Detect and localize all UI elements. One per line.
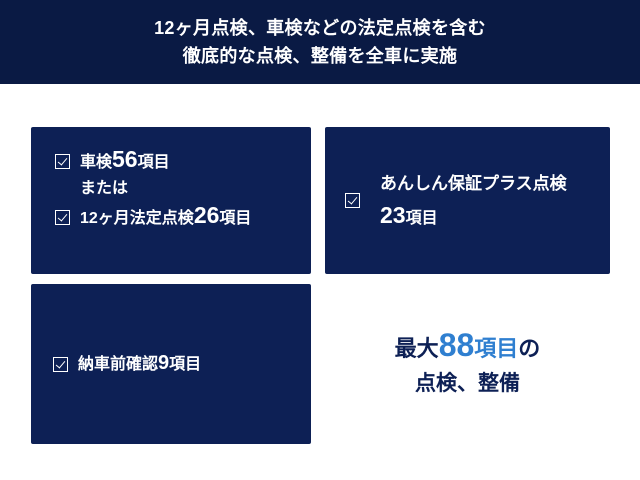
summary-line-1: 最大88項目の xyxy=(395,327,541,367)
card-a-row-2: 12ヶ月法定点検26項目 xyxy=(55,205,311,229)
card-b-line2: 23項目 xyxy=(380,200,567,234)
card-inspection-items: 車検56項目 または 12ヶ月法定点検26項目 xyxy=(31,127,311,274)
card-c-inner: 納車前確認9項目 xyxy=(31,284,311,444)
card-c-text: 納車前確認9項目 xyxy=(78,353,201,375)
card-a-item1-number: 56 xyxy=(112,146,138,172)
card-c-number: 9 xyxy=(158,352,169,374)
card-a-item2-label: 12ヶ月法定点検 xyxy=(80,210,194,227)
card-warranty-plus-inspection: あんしん保証プラス点検 23項目 xyxy=(325,127,610,274)
card-a-middle-text: または xyxy=(80,179,311,199)
content-area: 車検56項目 または 12ヶ月法定点検26項目 あんしん保証プラス点検 23項目 xyxy=(0,84,640,480)
card-b-suffix: 項目 xyxy=(406,210,438,227)
card-b-number: 23 xyxy=(380,202,406,228)
card-a-item1-suffix: 項目 xyxy=(138,154,170,171)
summary-line-2: 点検、整備 xyxy=(415,367,520,401)
card-a-item2-number: 26 xyxy=(194,202,220,228)
card-a-item2: 12ヶ月法定点検26項目 xyxy=(80,205,251,229)
header-banner: 12ヶ月点検、車検などの法定点検を含む 徹底的な点検、整備を全車に実施 xyxy=(0,0,640,84)
card-b-text: あんしん保証プラス点検 23項目 xyxy=(380,168,567,234)
card-c-suffix: 項目 xyxy=(169,356,201,373)
checkbox-icon xyxy=(55,154,70,169)
card-pre-delivery-check: 納車前確認9項目 xyxy=(31,284,311,444)
summary-unit: 項目 xyxy=(474,336,518,361)
checkbox-icon xyxy=(345,193,360,208)
card-a-row-1: 車検56項目 xyxy=(55,149,311,173)
infographic-page: 12ヶ月点検、車検などの法定点検を含む 徹底的な点検、整備を全車に実施 車検56… xyxy=(0,0,640,480)
card-a-item1: 車検56項目 xyxy=(80,149,170,173)
header-line-2: 徹底的な点検、整備を全車に実施 xyxy=(183,42,458,70)
summary-suffix: の xyxy=(518,336,540,361)
checkbox-icon xyxy=(53,357,68,372)
summary-total: 最大88項目の 点検、整備 xyxy=(325,284,610,444)
card-b-line1: あんしん保証プラス点検 xyxy=(380,168,567,200)
header-line-1: 12ヶ月点検、車検などの法定点検を含む xyxy=(154,14,486,42)
card-b-inner: あんしん保証プラス点検 23項目 xyxy=(325,127,610,274)
card-a-item1-label: 車検 xyxy=(80,154,112,171)
card-c-label: 納車前確認 xyxy=(78,356,158,373)
card-a-item2-suffix: 項目 xyxy=(219,210,251,227)
summary-number: 88 xyxy=(439,327,475,363)
checkbox-icon xyxy=(55,210,70,225)
summary-prefix: 最大 xyxy=(395,336,439,361)
